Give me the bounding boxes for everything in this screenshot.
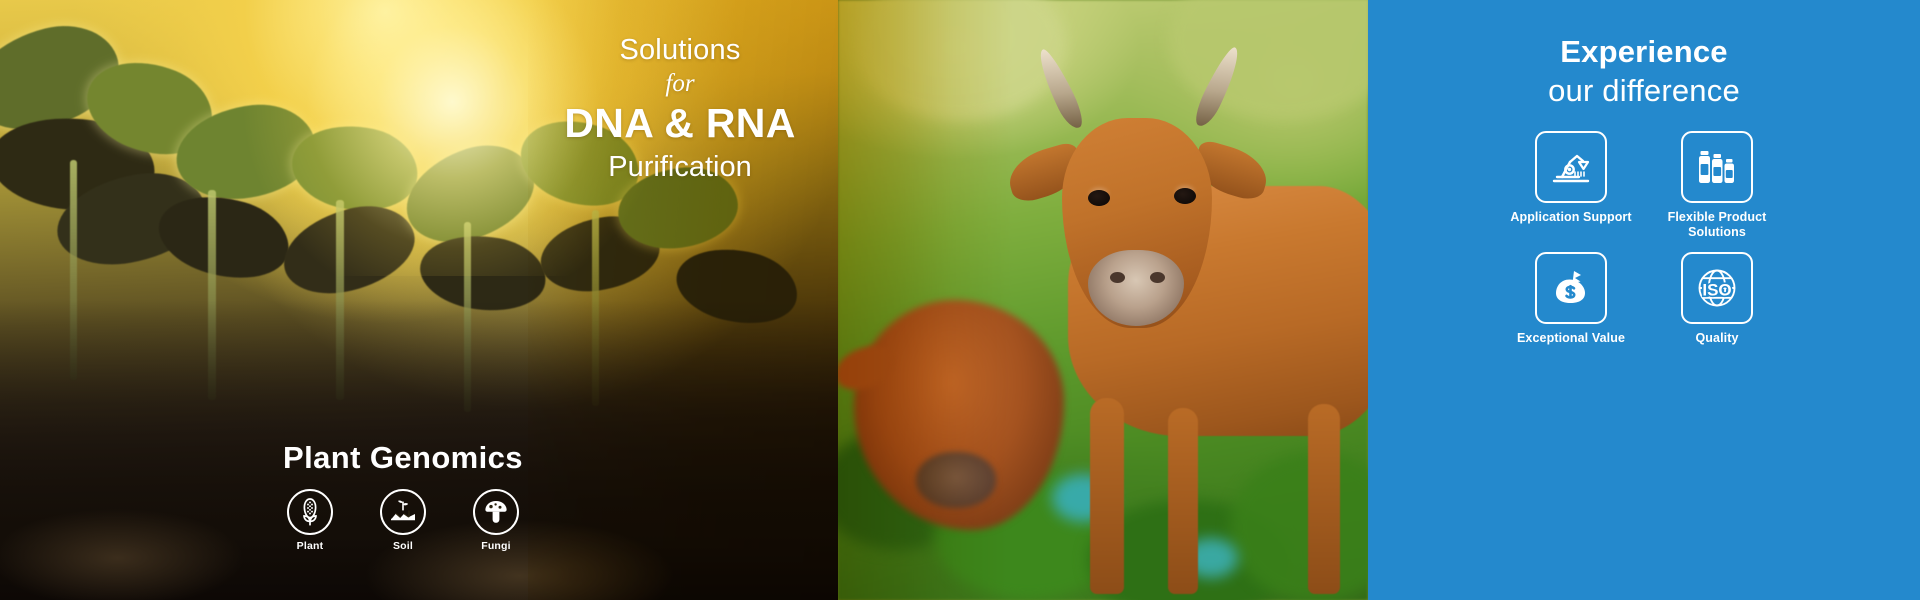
benefit-tile-quality[interactable]: ISO Quality: [1654, 252, 1780, 346]
robotic-arm-icon: [1535, 131, 1607, 203]
plant-genomics-title: Plant Genomics: [272, 441, 534, 475]
genomics-label-soil: Soil: [393, 540, 413, 552]
genomics-item-fungi[interactable]: Fungi: [458, 489, 534, 552]
cow-leg: [1168, 408, 1198, 594]
cow-nostril-left: [1110, 272, 1125, 283]
genomics-item-soil[interactable]: Soil: [365, 489, 441, 552]
corn-icon: [287, 489, 333, 535]
benefit-label-quality: Quality: [1695, 331, 1738, 346]
genomics-label-plant: Plant: [297, 540, 324, 552]
headline-solutions: Solutions: [460, 34, 900, 67]
iso-text: ISO: [1702, 280, 1731, 299]
money-bag-icon: [1535, 252, 1607, 324]
benefit-tile-exceptional-value[interactable]: Exceptional Value: [1508, 252, 1634, 346]
iso-globe-icon: ISO: [1681, 252, 1753, 324]
cow-nostril-right: [1150, 272, 1165, 283]
cow-leg: [1090, 398, 1124, 594]
benefit-label-application-support: Application Support: [1510, 210, 1631, 225]
cow-eye-right: [1174, 188, 1196, 204]
benefit-label-exceptional-value: Exceptional Value: [1517, 331, 1625, 346]
headline-block: Solutions for DNA & RNA Purification: [460, 34, 900, 184]
benefit-tiles: Application Support: [1508, 131, 1780, 345]
sidebar-title-bold: Experience: [1560, 34, 1727, 71]
bottles-icon: [1681, 131, 1753, 203]
cow-eye-left: [1088, 190, 1110, 206]
plant-genomics-block: Plant Genomics: [272, 441, 534, 552]
soil-icon: [380, 489, 426, 535]
genomics-label-fungi: Fungi: [481, 540, 511, 552]
genomics-item-plant[interactable]: Plant: [272, 489, 348, 552]
cattle-photo-panel: [838, 0, 1368, 600]
headline-product: DNA & RNA: [460, 101, 900, 147]
cow-leg: [1308, 404, 1340, 594]
experience-sidebar: Experience our difference: [1368, 0, 1920, 600]
benefit-tile-flexible-product-solutions[interactable]: Flexible Product Solutions: [1654, 131, 1780, 239]
benefit-label-flexible-product-solutions: Flexible Product Solutions: [1654, 210, 1780, 239]
benefit-tile-application-support[interactable]: Application Support: [1508, 131, 1634, 239]
mushroom-icon: [473, 489, 519, 535]
marketing-banner: Plant Genomics: [0, 0, 1920, 600]
headline-for: for: [460, 68, 900, 99]
sidebar-title-light: our difference: [1548, 72, 1740, 110]
plant-genomics-icon-row: Plant Soil: [272, 489, 534, 552]
headline-purification: Purification: [460, 150, 900, 185]
